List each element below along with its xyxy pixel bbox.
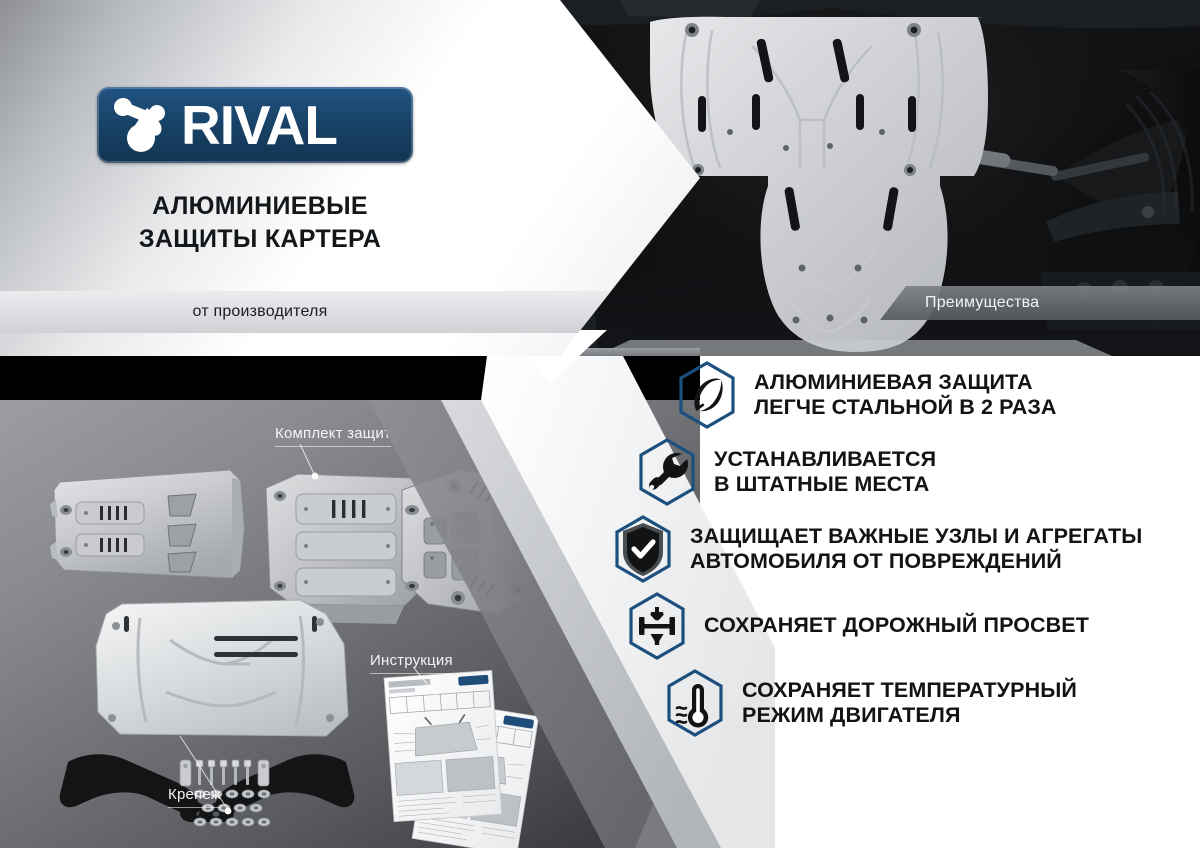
feature-item-clearance: СОХРАНЯЕТ ДОРОЖНЫЙ ПРОСВЕТ: [626, 591, 1200, 661]
feature-clearance-line1: СОХРАНЯЕТ ДОРОЖНЫЙ ПРОСВЕТ: [704, 613, 1089, 638]
feature-text-install: УСТАНАВЛИВАЕТСЯ В ШТАТНЫЕ МЕСТА: [714, 447, 936, 498]
advantages-ribbon-label: Преимущества: [925, 294, 1039, 312]
feature-text-weight: АЛЮМИНИЕВАЯ ЗАЩИТА ЛЕГЧЕ СТАЛЬНОЙ В 2 РА…: [754, 370, 1057, 421]
callout-kit: Комплект защит: [275, 425, 391, 442]
skid-plate-right: [402, 470, 534, 614]
rival-logo: RIVAL: [97, 87, 413, 163]
feature-item-weight: АЛЮМИНИЕВАЯ ЗАЩИТА ЛЕГЧЕ СТАЛЬНОЙ В 2 РА…: [676, 360, 1200, 430]
instruction-sheets: [384, 670, 539, 848]
callout-kit-label: Комплект защит: [275, 425, 391, 442]
feature-install-line1: УСТАНАВЛИВАЕТСЯ: [714, 447, 936, 472]
feature-install-line2: В ШТАТНЫЕ МЕСТА: [714, 472, 936, 497]
feather-icon: [676, 360, 738, 430]
thermometer-icon: [664, 668, 726, 738]
feature-text-temperature: СОХРАНЯЕТ ТЕМПЕРАТУРНЫЙ РЕЖИМ ДВИГАТЕЛЯ: [742, 678, 1077, 729]
feature-temperature-line2: РЕЖИМ ДВИГАТЕЛЯ: [742, 703, 1077, 728]
features-list: АЛЮМИНИЕВАЯ ЗАЩИТА ЛЕГЧЕ СТАЛЬНОЙ В 2 РА…: [612, 360, 1200, 745]
products-panel: Комплект защит Инструкция Крепеж: [0, 400, 700, 848]
feature-weight-line2: ЛЕГЧЕ СТАЛЬНОЙ В 2 РАЗА: [754, 395, 1057, 420]
advantages-ribbon: Преимущества: [880, 286, 1200, 320]
callout-instruction-label: Инструкция: [370, 652, 453, 669]
feature-item-protect: ЗАЩИЩАЕТ ВАЖНЫЕ УЗЛЫ И АГРЕГАТЫ АВТОМОБИ…: [612, 514, 1200, 584]
feature-temperature-line1: СОХРАНЯЕТ ТЕМПЕРАТУРНЫЙ: [742, 678, 1077, 703]
page-title-line2: ЗАЩИТЫ КАРТЕРА: [0, 223, 520, 256]
wrench-icon: [636, 437, 698, 507]
feature-protect-line1: ЗАЩИЩАЕТ ВАЖНЫЕ УЗЛЫ И АГРЕГАТЫ: [690, 524, 1142, 549]
band-black: [0, 356, 700, 400]
feature-text-protect: ЗАЩИЩАЕТ ВАЖНЫЕ УЗЛЫ И АГРЕГАТЫ АВТОМОБИ…: [690, 524, 1142, 575]
callout-hardware: Крепеж: [168, 786, 221, 803]
rival-wordmark: RIVAL: [181, 98, 337, 153]
tagline: от производителя: [0, 291, 520, 333]
feature-item-temperature: СОХРАНЯЕТ ТЕМПЕРАТУРНЫЙ РЕЖИМ ДВИГАТЕЛЯ: [664, 668, 1200, 738]
molecule-icon: [111, 94, 179, 156]
feature-protect-line2: АВТОМОБИЛЯ ОТ ПОВРЕЖДЕНИЙ: [690, 549, 1142, 574]
skid-plate-left: [50, 470, 244, 578]
page-title-line1: АЛЮМИНИЕВЫЕ: [0, 190, 520, 223]
feature-item-install: УСТАНАВЛИВАЕТСЯ В ШТАТНЫЕ МЕСТА: [636, 437, 1200, 507]
ground-clearance-icon: [626, 591, 688, 661]
callout-instruction: Инструкция: [370, 652, 453, 669]
feature-text-clearance: СОХРАНЯЕТ ДОРОЖНЫЙ ПРОСВЕТ: [704, 613, 1089, 638]
callout-hardware-label: Крепеж: [168, 786, 221, 803]
header-panel: RIVAL АЛЮМИНИЕВЫЕ ЗАЩИТЫ КАРТЕРА от прои…: [0, 0, 700, 356]
shield-check-icon: [612, 514, 674, 584]
page-title: АЛЮМИНИЕВЫЕ ЗАЩИТЫ КАРТЕРА: [0, 190, 520, 256]
feature-weight-line1: АЛЮМИНИЕВАЯ ЗАЩИТА: [754, 370, 1057, 395]
products-art: [0, 400, 700, 848]
poster-root: Преимущества RIVAL АЛЮМ: [0, 0, 1200, 848]
skid-plate-large: [96, 600, 348, 736]
